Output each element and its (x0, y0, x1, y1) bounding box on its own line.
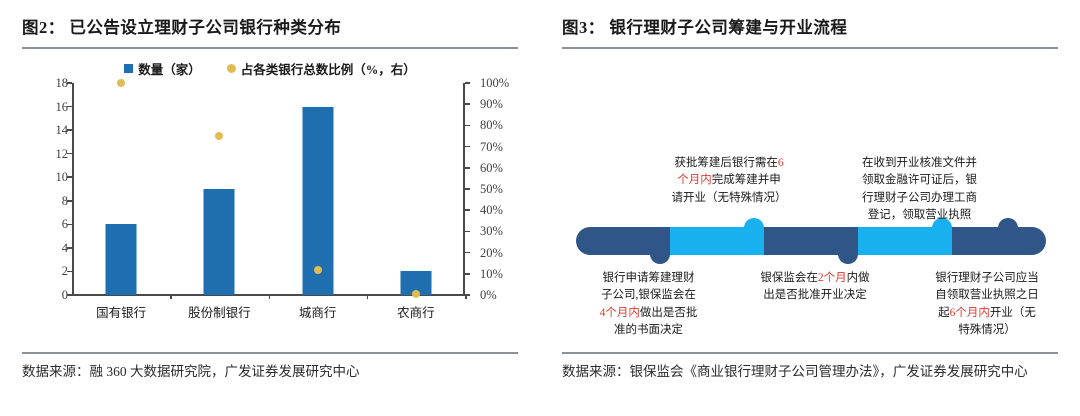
legend-item-share: 占各类银行总数比例（%，右） (227, 59, 416, 78)
figure-2-title-rule (22, 47, 518, 49)
legend-label-share: 占各类银行总数比例（%，右） (241, 59, 416, 78)
y-axis-right-tick-label: 10% (480, 268, 503, 281)
flow-milestone-marker (838, 244, 858, 264)
figure-3-source: 数据来源：银保监会《商业银行理财子公司管理办法》，广发证券发展研究中心 (562, 360, 1062, 384)
flow-milestone-marker (650, 244, 670, 264)
chart-bar (204, 189, 235, 295)
y-axis-left-tick-mark (67, 176, 72, 178)
x-axis-tick-label: 农商行 (367, 302, 465, 321)
y-axis-right-tick-mark (465, 82, 470, 84)
chart-category-slot (170, 83, 268, 295)
y-axis-right-tick-label: 50% (480, 183, 503, 196)
figure-2-title-text: 已公告设立理财子公司银行种类分布 (69, 18, 341, 37)
figures-page: 图2： 已公告设立理财子公司银行种类分布 数量（家） 占各类银行总数比例（%，右… (0, 0, 1080, 416)
x-axis-tick-mark (269, 294, 271, 299)
y-axis-left-tick-mark (67, 224, 72, 226)
flow-note-bottom-3: 银行理财子公司应当 自领取营业执照之日 起6个月内开业（无 特殊情况） (917, 270, 1057, 339)
x-axis-tick-label: 国有银行 (72, 302, 170, 321)
y-axis-left-tick-mark (67, 247, 72, 249)
figure-2-footer-rule (22, 352, 518, 354)
figure-3-title: 图3： 银行理财子公司筹建与开业流程 (562, 0, 1058, 38)
figure-3-footer-rule (562, 352, 1058, 354)
figure-2-label: 图 (22, 18, 39, 37)
chart-dot-marker (314, 266, 322, 274)
y-axis-right-tick-label: 30% (480, 225, 503, 238)
y-axis-right-tick-mark (465, 231, 470, 233)
circle-marker-icon (227, 64, 236, 73)
legend-item-count: 数量（家） (124, 59, 201, 78)
flow-note-bottom-1: 银行申请筹建理财 子公司,银保监会在 4个月内做出是否批 准的书面决定 (576, 270, 721, 339)
figure-2-source: 数据来源：融 360 大数据研究院，广发证券发展研究中心 (22, 360, 522, 384)
y-axis-right-tick-label: 20% (480, 246, 503, 259)
chart-plot-area: 024681012141618 0%10%20%30%40%50%60%70%8… (22, 83, 518, 323)
chart-dot-marker (215, 132, 223, 140)
figure-2-separator: ： (48, 18, 65, 37)
figure-3-title-rule (562, 47, 1058, 49)
square-marker-icon (124, 64, 133, 73)
y-axis-left-tick-mark (67, 82, 72, 84)
figure-3-panel: 图3： 银行理财子公司筹建与开业流程 获批筹建后银行需在6 个月内完成筹建并申 … (540, 0, 1080, 416)
flow-note-text: 银保监会在 (760, 272, 818, 284)
flow-note-text: 请开业（无特殊情况） (672, 192, 787, 204)
y-axis-right-tick-mark (465, 209, 470, 211)
chart-category-slot (72, 83, 170, 295)
y-axis-right-tick-mark (465, 167, 470, 169)
y-axis-right-tick-mark (465, 252, 470, 254)
flow-note-text: 获批筹建后银行需在 (674, 157, 778, 169)
flow-timeline-bar (576, 227, 1046, 255)
chart-dot-marker (117, 79, 125, 87)
chart-bar (106, 224, 137, 295)
chart-series-container (72, 83, 465, 295)
y-axis-left-tick-mark (67, 294, 72, 296)
y-axis-left-tick-mark (67, 106, 72, 108)
figure-3-flow-diagram: 获批筹建后银行需在6 个月内完成筹建并申 请开业（无特殊情况）在收到开业核准文件… (562, 55, 1058, 355)
chart-legend: 数量（家） 占各类银行总数比例（%，右） (22, 55, 518, 81)
figure-2-title: 图2： 已公告设立理财子公司银行种类分布 (22, 0, 518, 38)
flow-note-highlight: 6个月内 (950, 307, 990, 319)
flow-note-highlight: 4个月内 (600, 307, 640, 319)
y-axis-right-tick-label: 60% (480, 162, 503, 175)
y-axis-right-tick-label: 40% (480, 204, 503, 217)
y-axis-right-tick-mark (465, 146, 470, 148)
y-axis-right-tick-mark (465, 125, 470, 127)
y-axis-right-tick-label: 70% (480, 140, 503, 153)
flow-note-text: 银行申请筹建理财 子公司,银保监会在 (601, 272, 696, 301)
flow-note-bottom-2: 银保监会在2个月内做 出是否批准开业决定 (740, 270, 890, 305)
x-axis-tick-label: 城商行 (269, 302, 367, 321)
x-axis-tick-label: 股份制银行 (170, 302, 268, 321)
flow-note-highlight: 2个月 (818, 272, 847, 284)
chart-dot-marker (412, 290, 420, 298)
y-axis-right-tick-mark (465, 103, 470, 105)
flow-note-top-2: 在收到开业核准文件并 领取金融许可证后，银 行理财子公司办理工商 登记，领取营业… (842, 155, 997, 224)
flow-note-text: 完成筹建并申 (712, 174, 781, 186)
flow-note-top-1: 获批筹建后银行需在6 个月内完成筹建并申 请开业（无特殊情况） (654, 155, 804, 207)
flow-milestone-marker (998, 218, 1018, 238)
figure-2-number: 2 (39, 18, 48, 37)
figure-2-panel: 图2： 已公告设立理财子公司银行种类分布 数量（家） 占各类银行总数比例（%，右… (0, 0, 540, 416)
x-axis-tick-mark (367, 294, 369, 299)
x-axis-labels: 国有银行股份制银行城商行农商行 (72, 302, 465, 321)
y-axis-left-tick-mark (67, 271, 72, 273)
chart-category-slot (269, 83, 367, 295)
figure-3-separator: ： (588, 18, 605, 37)
figure-3-number: 3 (579, 18, 588, 37)
y-axis-right-tick-label: 0% (480, 289, 497, 302)
y-axis-right-tick-label: 90% (480, 98, 503, 111)
figure-3-title-text: 银行理财子公司筹建与开业流程 (609, 18, 847, 37)
y-axis-left-tick-mark (67, 129, 72, 131)
y-axis-right-tick-mark (465, 273, 470, 275)
chart-category-slot (367, 83, 465, 295)
x-axis-tick-mark (465, 294, 467, 299)
x-axis-tick-mark (170, 294, 172, 299)
y-axis-right-tick-label: 80% (480, 119, 503, 132)
flow-milestone-marker (744, 218, 764, 238)
legend-label-count: 数量（家） (138, 59, 201, 78)
y-axis-right-tick-mark (465, 188, 470, 190)
figure-3-label: 图 (562, 18, 579, 37)
y-axis-left-tick-mark (67, 153, 72, 155)
y-axis-left-tick-mark (67, 200, 72, 202)
y-axis-right-labels: 0%10%20%30%40%50%60%70%80%90%100% (472, 83, 518, 295)
flow-note-text: 在收到开业核准文件并 领取金融许可证后，银 行理财子公司办理工商 登记，领取营业… (862, 157, 977, 221)
flow-note-highlight: 个月内 (677, 174, 712, 186)
figure-2-chart: 数量（家） 占各类银行总数比例（%，右） 024681012141618 0%1… (22, 55, 518, 355)
y-axis-left-labels: 024681012141618 (28, 83, 68, 295)
flow-note-highlight: 6 (778, 157, 784, 169)
y-axis-right-tick-label: 100% (480, 77, 509, 90)
